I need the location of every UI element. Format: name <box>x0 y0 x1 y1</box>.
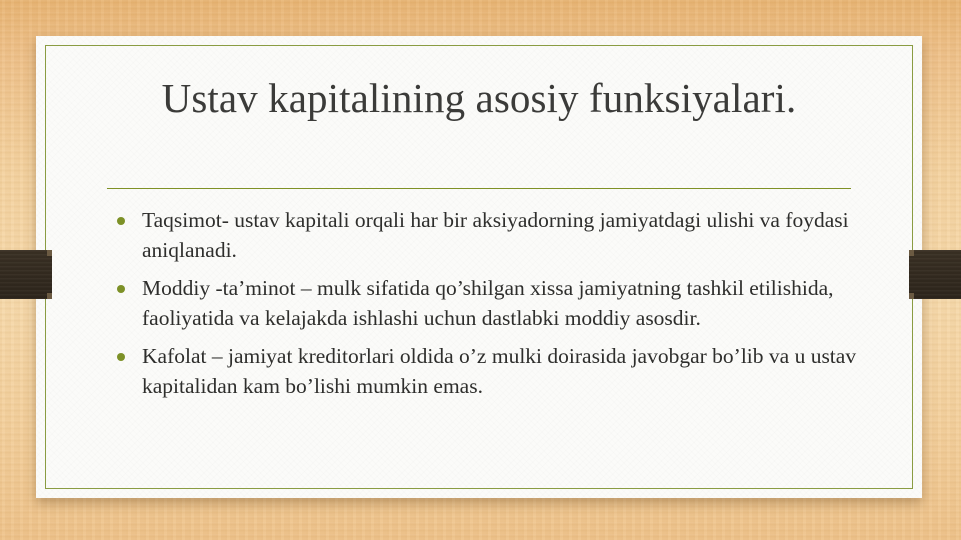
slide-title: Ustav kapitalining asosiy funksiyalari. <box>107 72 851 124</box>
title-divider-rule <box>107 188 851 189</box>
bullet-dot-icon <box>117 285 125 293</box>
list-item: Kafolat – jamiyat kreditorlari oldida o’… <box>107 342 871 401</box>
slide-bullet-list: Taqsimot- ustav kapitali orqali har bir … <box>107 206 871 401</box>
bullet-dot-icon <box>117 217 125 225</box>
list-item-text: Taqsimot- ustav kapitali orqali har bir … <box>142 206 871 265</box>
list-item-text: Moddiy -ta’minot – mulk sifatida qo’shil… <box>142 274 871 333</box>
decorative-ribbon-left <box>0 250 52 299</box>
list-item-text: Kafolat – jamiyat kreditorlari oldida o’… <box>142 342 871 401</box>
decorative-ribbon-right <box>909 250 961 299</box>
bullet-dot-icon <box>117 353 125 361</box>
presentation-slide: Ustav kapitalining asosiy funksiyalari. … <box>0 0 961 540</box>
slide-content-card: Ustav kapitalining asosiy funksiyalari. … <box>36 36 922 498</box>
list-item: Moddiy -ta’minot – mulk sifatida qo’shil… <box>107 274 871 333</box>
list-item: Taqsimot- ustav kapitali orqali har bir … <box>107 206 871 265</box>
slide-content: Ustav kapitalining asosiy funksiyalari. … <box>36 36 922 498</box>
